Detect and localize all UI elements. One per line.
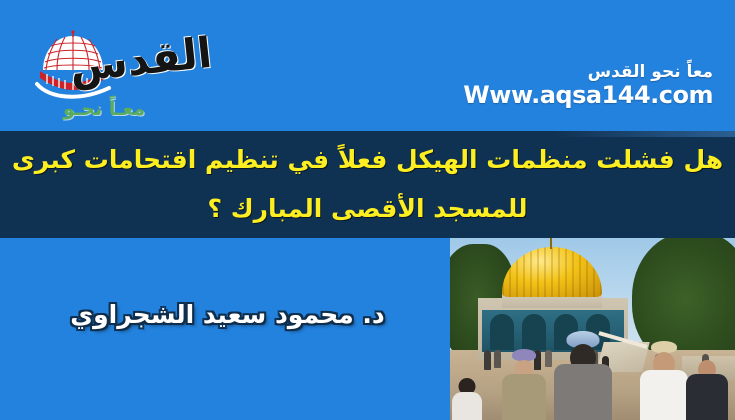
al-aqsa-photo bbox=[450, 238, 735, 420]
person-body bbox=[502, 374, 546, 420]
foreground-person-white-shirt bbox=[640, 346, 688, 420]
foreground-person-child bbox=[452, 378, 482, 420]
logo-script-text: القدس bbox=[88, 12, 216, 106]
headline-line-2: للمسجد الأقصى المبارك ؟ bbox=[8, 184, 727, 233]
background-person bbox=[484, 350, 491, 370]
headline-line-1: هل فشلت منظمات الهيكل فعلاً في تنظيم اقت… bbox=[8, 135, 727, 184]
arch-1 bbox=[490, 314, 514, 350]
background-person bbox=[545, 350, 552, 367]
dome-finial bbox=[550, 238, 552, 249]
website-url[interactable]: Www.aqsa144.com bbox=[463, 82, 713, 108]
logo-subtitle: معـاً نحـو bbox=[44, 98, 164, 120]
person-body bbox=[640, 370, 688, 420]
speaker-name: د. محمود سعيد الشجراوي bbox=[30, 300, 425, 329]
background-person bbox=[494, 350, 501, 368]
person-body bbox=[554, 364, 612, 420]
site-logo[interactable]: القدس معـاً نحـو bbox=[30, 22, 215, 122]
foreground-person-purple-kippah bbox=[502, 354, 546, 420]
foreground-person-officer bbox=[686, 356, 728, 420]
brand-tagline: معاً نحو القدس bbox=[463, 62, 713, 82]
person-body bbox=[452, 392, 482, 420]
arch-2 bbox=[522, 314, 546, 350]
person-body bbox=[686, 374, 728, 420]
headline-text: هل فشلت منظمات الهيكل فعلاً في تنظيم اقت… bbox=[0, 131, 735, 238]
foreground-person-blue-kippah bbox=[554, 336, 612, 420]
brand-block[interactable]: معاً نحو القدس Www.aqsa144.com bbox=[463, 62, 713, 108]
promo-poster: القدس معـاً نحـو معاً نحو القدس Www.aqsa… bbox=[0, 0, 735, 420]
